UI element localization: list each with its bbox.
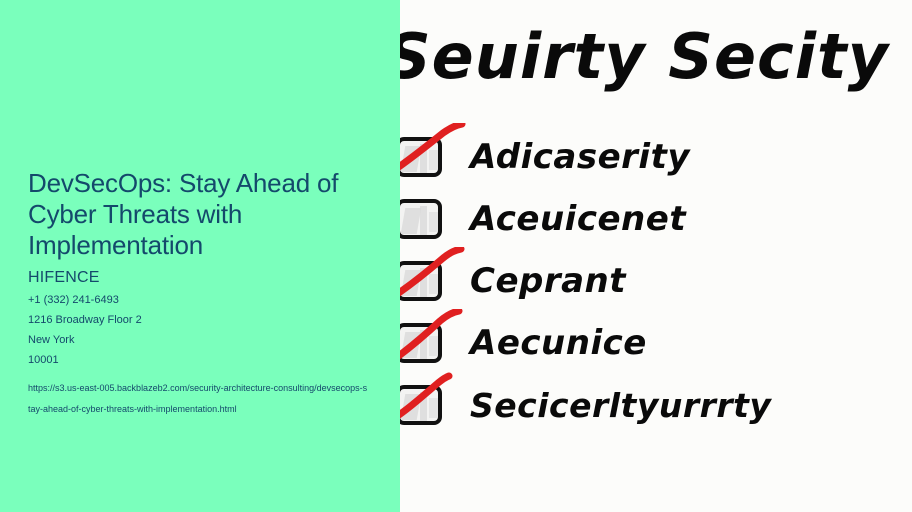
page-title: DevSecOps: Stay Ahead of Cyber Threats w… bbox=[28, 168, 396, 261]
checklist-item[interactable]: Aecunice bbox=[400, 312, 912, 374]
smudge-mark bbox=[429, 274, 440, 294]
smudge-mark bbox=[401, 208, 422, 234]
checkbox-2[interactable] bbox=[400, 193, 448, 245]
smudge-mark bbox=[420, 144, 427, 174]
whiteboard-headline: Seuirty Secity bbox=[400, 14, 912, 100]
smudge-mark bbox=[420, 392, 427, 422]
checkbox-5[interactable] bbox=[400, 379, 448, 431]
smudge-mark bbox=[401, 146, 422, 172]
checkbox-outline-icon bbox=[400, 137, 442, 177]
checklist-item[interactable]: Secicerltyurrrty bbox=[400, 374, 912, 436]
contact-address-zip: 10001 bbox=[28, 350, 396, 370]
checkbox-outline-icon bbox=[400, 199, 442, 239]
source-url-link[interactable]: https://s3.us-east-005.backblazeb2.com/s… bbox=[28, 378, 368, 420]
checkbox-outline-icon bbox=[400, 323, 442, 363]
smudge-mark bbox=[429, 150, 440, 170]
checklist-item[interactable]: Adicaserity bbox=[400, 126, 912, 188]
smudge-mark bbox=[401, 270, 422, 296]
checklist-item-label: Aecunice bbox=[470, 323, 647, 363]
checklist-item-label: Aceuicenet bbox=[470, 199, 686, 239]
whiteboard-surface: Seuirty Secity Adicaserity bbox=[400, 0, 912, 512]
smudge-mark bbox=[420, 206, 427, 236]
whiteboard-illustration-panel: Seuirty Secity Adicaserity bbox=[400, 0, 912, 512]
article-preview-card: DevSecOps: Stay Ahead of Cyber Threats w… bbox=[0, 0, 912, 512]
smudge-mark bbox=[420, 268, 427, 298]
smudge-mark bbox=[401, 332, 422, 358]
smudge-mark bbox=[429, 212, 440, 232]
brand-name: HIFENCE bbox=[28, 267, 396, 288]
checklist-item-label: Secicerltyurrrty bbox=[470, 386, 771, 425]
checklist-item-label: Adicaserity bbox=[470, 137, 690, 177]
smudge-mark bbox=[401, 394, 422, 420]
checkbox-outline-icon bbox=[400, 385, 442, 425]
checkbox-4[interactable] bbox=[400, 317, 448, 369]
contact-address-city: New York bbox=[28, 330, 396, 350]
checkbox-outline-icon bbox=[400, 261, 442, 301]
checklist-item-label: Ceprant bbox=[470, 261, 626, 301]
checklist-item[interactable]: Ceprant bbox=[400, 250, 912, 312]
checkbox-1[interactable] bbox=[400, 131, 448, 183]
smudge-mark bbox=[420, 330, 427, 360]
whiteboard-checklist: Adicaserity Aceuicenet bbox=[400, 126, 912, 436]
contact-phone[interactable]: +1 (332) 241-6493 bbox=[28, 290, 396, 310]
smudge-mark bbox=[429, 336, 440, 356]
checkbox-3[interactable] bbox=[400, 255, 448, 307]
smudge-mark bbox=[429, 398, 440, 418]
article-info-content: DevSecOps: Stay Ahead of Cyber Threats w… bbox=[28, 168, 396, 420]
article-info-panel: DevSecOps: Stay Ahead of Cyber Threats w… bbox=[0, 0, 400, 512]
checklist-item[interactable]: Aceuicenet bbox=[400, 188, 912, 250]
contact-address-street: 1216 Broadway Floor 2 bbox=[28, 310, 396, 330]
